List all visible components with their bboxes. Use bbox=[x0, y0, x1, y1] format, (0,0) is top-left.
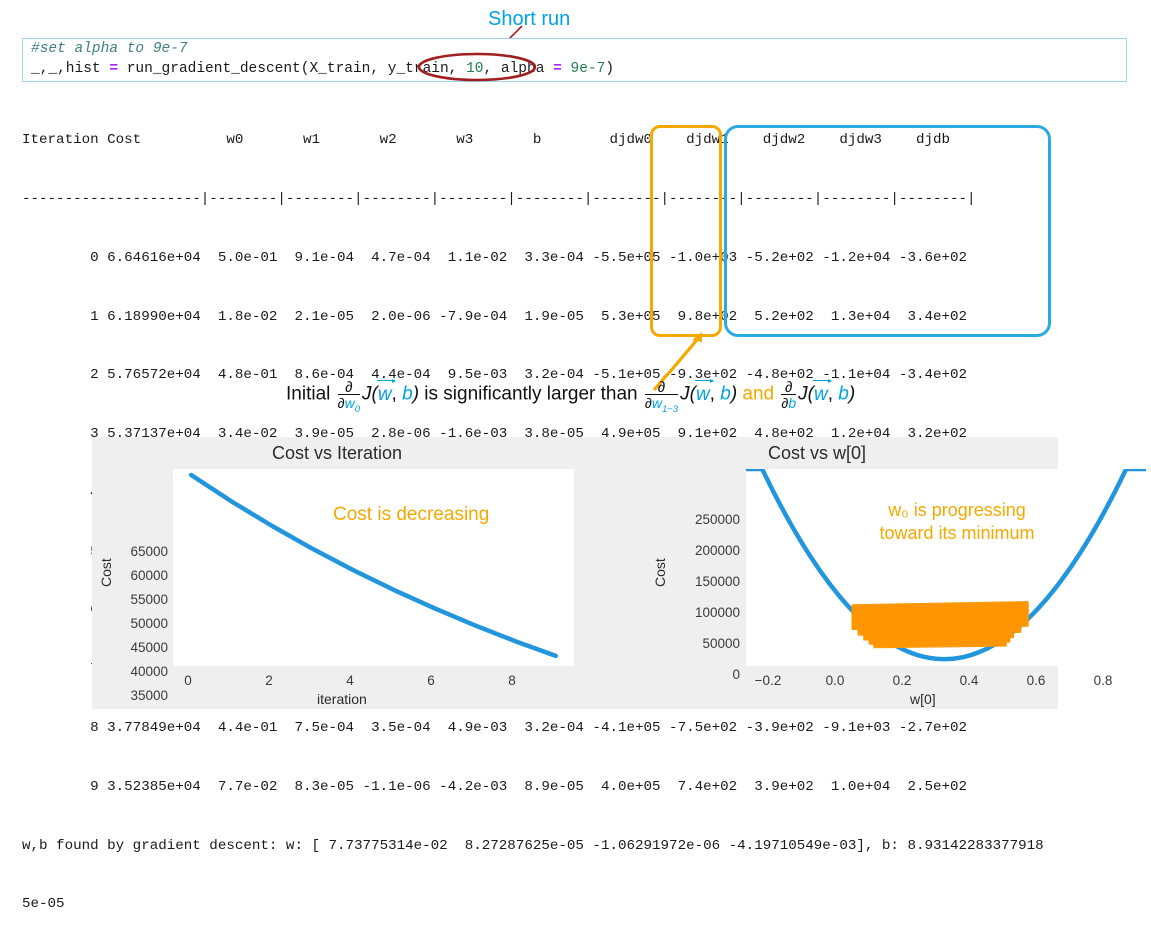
matplotlib-figure: Cost vs Iteration 65000 60000 55000 5000… bbox=[92, 437, 1058, 709]
w-variable-2: w bbox=[652, 395, 662, 411]
partial-denominator-w0: ∂w0 bbox=[338, 394, 360, 417]
b-variable: b bbox=[402, 384, 413, 405]
xtick-label: 0 bbox=[172, 673, 204, 688]
code-comment-line: #set alpha to 9e-7 bbox=[23, 39, 1126, 59]
xtick-label: 0.2 bbox=[882, 673, 922, 688]
ytick-label: 45000 bbox=[102, 640, 168, 655]
xtick-label: 4 bbox=[334, 673, 366, 688]
code-close-paren: ) bbox=[605, 61, 614, 77]
partial-denominator-b: ∂b bbox=[781, 394, 796, 411]
ytick-label: 65000 bbox=[102, 544, 168, 559]
code-call-expression: run_gradient_descent(X_train, y_train, bbox=[118, 61, 466, 77]
paren-close-2: ) bbox=[731, 384, 737, 405]
w-subscript-0: 0 bbox=[355, 404, 360, 415]
partial-symbol-numerator-3: ∂ bbox=[781, 381, 796, 394]
ytick-label: 0 bbox=[662, 667, 740, 682]
paren-close: ) bbox=[413, 384, 419, 405]
code-alpha-value: 9e-7 bbox=[562, 61, 606, 77]
code-statement-line: _,_,hist = run_gradient_descent(X_train,… bbox=[23, 59, 1126, 79]
comma-symbol-2: , bbox=[710, 384, 715, 405]
xtick-label: 6 bbox=[415, 673, 447, 688]
chart-title-cost-vs-iteration: Cost vs Iteration bbox=[172, 443, 502, 464]
partial-derivative-w13-fraction: ∂ ∂w1−3 bbox=[645, 381, 678, 417]
partial-symbol-numerator-2: ∂ bbox=[645, 381, 678, 394]
partial-symbol-denominator-2: ∂ bbox=[645, 395, 652, 411]
code-cell[interactable]: #set alpha to 9e-7 _,_,hist = run_gradie… bbox=[22, 38, 1127, 82]
w-vector-symbol-3: w bbox=[814, 384, 828, 406]
xtick-label: 0.6 bbox=[1016, 673, 1056, 688]
caption-and-word: and bbox=[742, 384, 774, 405]
caption-initial-word: Initial bbox=[286, 384, 330, 405]
xtick-label: −0.2 bbox=[748, 673, 788, 688]
b-variable-4: b bbox=[838, 384, 849, 405]
xtick-label: 0.8 bbox=[1083, 673, 1123, 688]
table-header-row: Iteration Cost w0 w1 w2 w3 b djdw0 djdw1… bbox=[22, 131, 1132, 151]
code-assign-target: _,_,hist bbox=[31, 61, 109, 77]
table-row: 0 6.64616e+04 5.0e-01 9.1e-04 4.7e-04 1.… bbox=[22, 249, 1132, 269]
J-symbol-3: J bbox=[798, 384, 808, 405]
gradient-magnitude-caption: Initial ∂ ∂w0 J(w, b) is significantly l… bbox=[286, 383, 906, 419]
table-row: 9 3.52385e+04 7.7e-02 8.3e-05 -1.1e-06 -… bbox=[22, 778, 1132, 798]
cost-decreasing-annotation: Cost is decreasing bbox=[333, 504, 489, 526]
result-line-2: 5e-05 bbox=[22, 895, 1132, 915]
xtick-label: 2 bbox=[253, 673, 285, 688]
xtick-label: 8 bbox=[496, 673, 528, 688]
caption-middle-text: is significantly larger than bbox=[424, 384, 637, 405]
paren-close-3: ) bbox=[849, 384, 855, 405]
partial-symbol-denominator: ∂ bbox=[338, 395, 345, 411]
w-subscript-1-3: 1−3 bbox=[662, 404, 678, 415]
ytick-label: 100000 bbox=[662, 605, 740, 620]
xlabel-iteration: iteration bbox=[317, 691, 367, 707]
partial-derivative-b-fraction: ∂ ∂b bbox=[781, 381, 796, 411]
w-vector-symbol: w bbox=[378, 384, 392, 406]
partial-denominator-w13: ∂w1−3 bbox=[645, 394, 678, 417]
comma-symbol: , bbox=[392, 384, 397, 405]
partial-symbol-numerator: ∂ bbox=[338, 381, 360, 394]
w-variable: w bbox=[345, 395, 355, 411]
table-row: 8 3.77849e+04 4.4e-01 7.5e-04 3.5e-04 4.… bbox=[22, 719, 1132, 739]
chart-title-cost-vs-w0: Cost vs w[0] bbox=[652, 443, 982, 464]
partial-derivative-w0-fraction: ∂ ∂w0 bbox=[338, 381, 360, 417]
b-variable-2: b bbox=[720, 384, 731, 405]
ytick-label: 250000 bbox=[662, 512, 740, 527]
comma-symbol-3: , bbox=[828, 384, 833, 405]
ytick-label: 50000 bbox=[662, 636, 740, 651]
w0-progressing-annotation-line1: w₀ is progressing bbox=[827, 499, 1087, 522]
ytick-label: 50000 bbox=[102, 616, 168, 631]
code-comment-text: #set alpha to 9e-7 bbox=[31, 41, 188, 57]
code-operator-eq: = bbox=[109, 61, 118, 77]
ylabel-cost-right: Cost bbox=[652, 558, 668, 587]
xtick-label: 0.0 bbox=[815, 673, 855, 688]
ytick-label: 35000 bbox=[102, 688, 168, 703]
result-line-1: w,b found by gradient descent: w: [ 7.73… bbox=[22, 837, 1132, 857]
red-ellipse-annotation bbox=[416, 52, 538, 82]
code-operator-eq2: = bbox=[553, 61, 562, 77]
ytick-label: 150000 bbox=[662, 574, 740, 589]
ytick-label: 40000 bbox=[102, 664, 168, 679]
xtick-label: 0.4 bbox=[949, 673, 989, 688]
b-variable-3: b bbox=[788, 395, 796, 411]
w-vector-symbol-2: w bbox=[696, 384, 710, 406]
ytick-label: 55000 bbox=[102, 592, 168, 607]
ylabel-cost-left: Cost bbox=[98, 558, 114, 587]
table-separator-row: ---------------------|--------|--------|… bbox=[22, 190, 1132, 210]
xlabel-w0: w[0] bbox=[910, 691, 936, 707]
cost-vs-iteration-line bbox=[173, 469, 574, 666]
table-row: 1 6.18990e+04 1.8e-02 2.1e-05 2.0e-06 -7… bbox=[22, 308, 1132, 328]
J-symbol-2: J bbox=[680, 384, 690, 405]
ytick-label: 200000 bbox=[662, 543, 740, 558]
w0-progressing-annotation-line2: toward its minimum bbox=[827, 522, 1087, 545]
